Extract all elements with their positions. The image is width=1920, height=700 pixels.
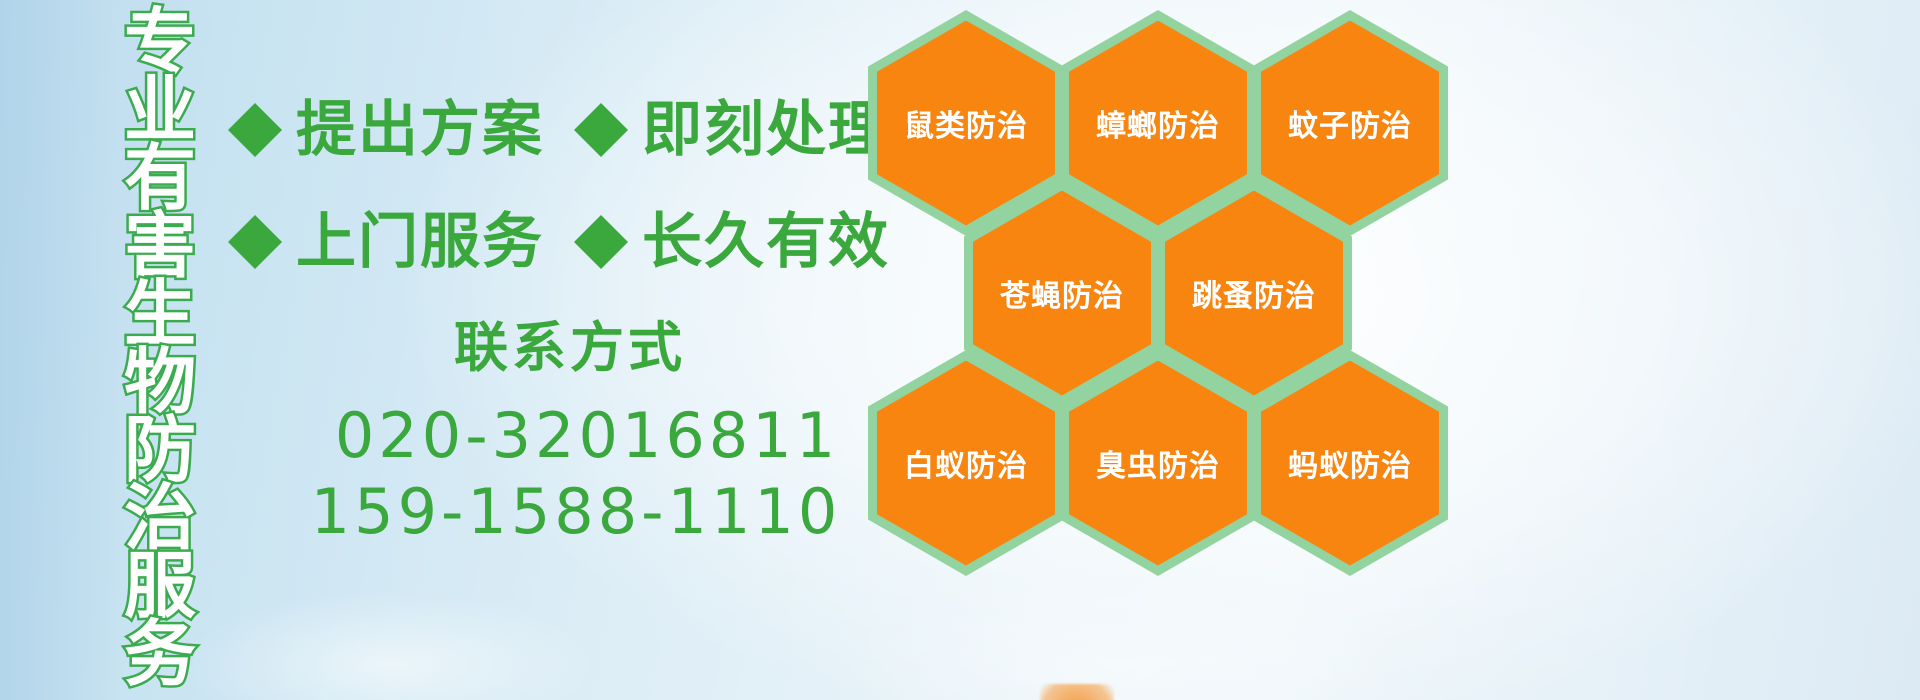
vertical-slogan-char: 业 — [124, 76, 196, 144]
feature-label: 长久有效 — [642, 212, 890, 272]
hex-label: 蚂蚁防治 — [1288, 441, 1412, 485]
contact-block: 联系方式 020-32016811 159-1588-1110 — [300, 312, 860, 550]
vertical-slogan-char: 治 — [124, 484, 196, 552]
diamond-bullet-icon — [228, 188, 282, 242]
hex-label: 蚊子防治 — [1288, 101, 1412, 145]
diamond-bullet-icon — [574, 188, 628, 242]
vertical-slogan-char: 有 — [124, 144, 196, 212]
hex-label: 白蚁防治 — [904, 441, 1028, 485]
phone-landline[interactable]: 020-32016811 — [314, 398, 860, 474]
vertical-slogan-char: 务 — [124, 620, 196, 688]
hex-inner: 蟑螂防治 — [1069, 21, 1247, 226]
vertical-slogan-char: 物 — [124, 348, 196, 416]
hex-inner: 鼠类防治 — [877, 21, 1055, 226]
vertical-slogan-char: 专 — [124, 8, 196, 76]
feature-row: 上门服务 长久有效 — [228, 186, 868, 298]
feature-item-immediate-handling: 即刻处理 — [574, 100, 890, 160]
feature-list: 提出方案 即刻处理 上门服务 长久有效 — [228, 74, 868, 298]
hex-inner: 蚂蚁防治 — [1261, 361, 1439, 566]
contact-title: 联系方式 — [280, 312, 860, 384]
feature-label: 上门服务 — [296, 212, 544, 272]
pest-control-banner: 专 业 有 害 生 物 防 治 服 务 提出方案 即刻处理 上门服务 — [0, 0, 1920, 700]
hex-label: 鼠类防治 — [904, 101, 1028, 145]
hex-inner: 臭虫防治 — [1069, 361, 1247, 566]
hex-label: 苍蝇防治 — [1000, 271, 1124, 315]
hex-inner: 苍蝇防治 — [973, 191, 1151, 396]
hex-inner: 蚊子防治 — [1261, 21, 1439, 226]
feature-item-onsite-service: 上门服务 — [228, 212, 544, 272]
phone-mobile[interactable]: 159-1588-1110 — [292, 474, 860, 550]
hex-label: 蟑螂防治 — [1096, 101, 1220, 145]
diamond-bullet-icon — [574, 76, 628, 130]
vertical-slogan-char: 服 — [124, 552, 196, 620]
hex-label: 跳蚤防治 — [1192, 271, 1316, 315]
feature-label: 提出方案 — [296, 100, 544, 160]
feature-item-propose-plan: 提出方案 — [228, 100, 544, 160]
feature-label: 即刻处理 — [642, 100, 890, 160]
bottom-light-streak-left — [180, 590, 600, 700]
feature-item-long-lasting: 长久有效 — [574, 212, 890, 272]
vertical-slogan: 专 业 有 害 生 物 防 治 服 务 — [96, 8, 224, 700]
vertical-slogan-char: 防 — [124, 416, 196, 484]
service-hexagon-grid: 鼠类防治 蟑螂防治 蚊子防治 苍蝇防治 跳蚤防治 白蚁防治 — [860, 0, 1460, 700]
diamond-bullet-icon — [228, 76, 282, 130]
vertical-slogan-char: 生 — [124, 280, 196, 348]
hex-label: 臭虫防治 — [1096, 441, 1220, 485]
hex-inner: 跳蚤防治 — [1165, 191, 1343, 396]
hex-inner: 白蚁防治 — [877, 361, 1055, 566]
feature-row: 提出方案 即刻处理 — [228, 74, 868, 186]
vertical-slogan-char: 害 — [124, 212, 196, 280]
